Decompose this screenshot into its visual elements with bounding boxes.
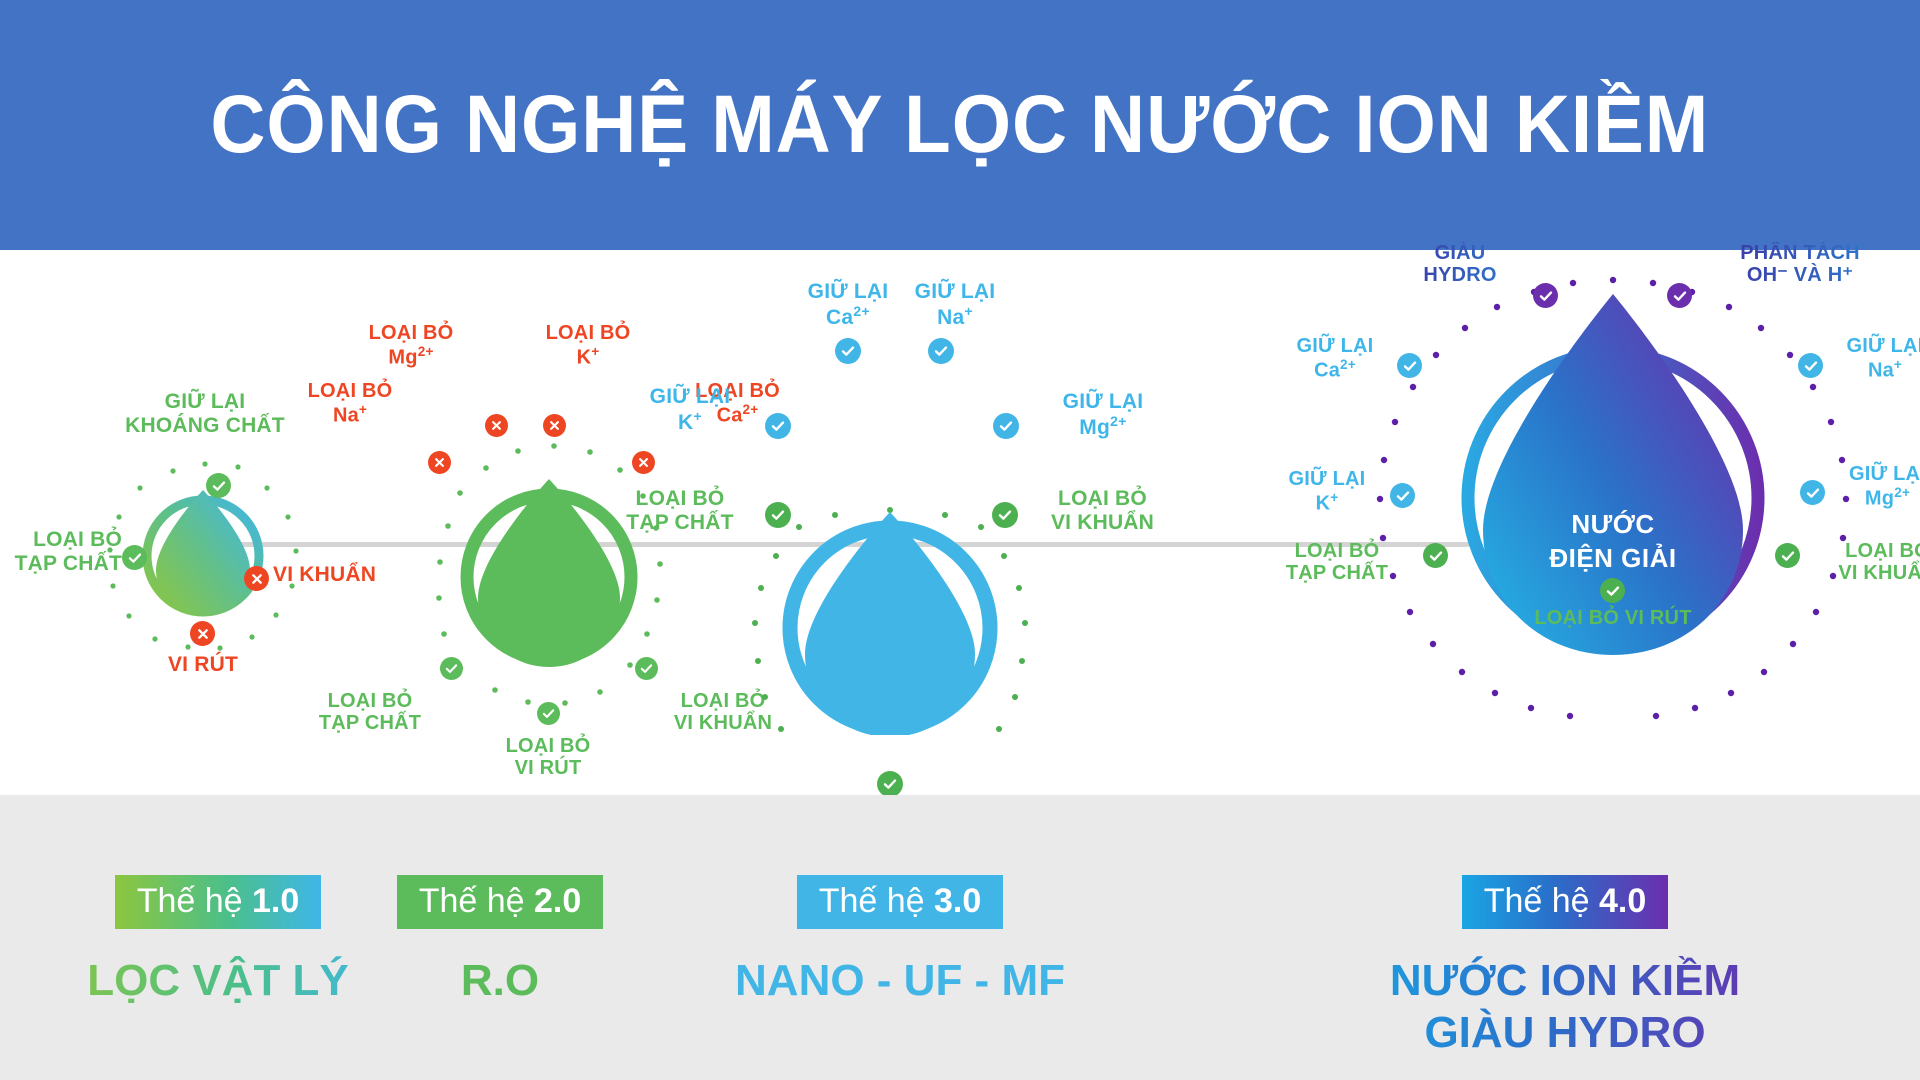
gen3-label-remove-bacteria: LOẠI BỎ VI KHUẨN <box>1015 487 1190 534</box>
gen4-bacteria-line1: LOẠI BỎ <box>1845 540 1920 562</box>
gen2-cross-badge-k <box>543 414 566 437</box>
gen4-check-badge-k <box>1390 483 1415 508</box>
gen2-cross-badge-mg <box>485 414 508 437</box>
gen3-label-remove-sediment: LOẠI BỎ TẠP CHẤT <box>595 487 765 534</box>
gen4-k-symbol: K <box>1316 493 1331 515</box>
footer-generation-3: Thế hệ 3.0 NANO - UF - MF <box>680 875 1120 1007</box>
gen3-check-badge-virus <box>877 771 903 797</box>
gen3-na-symbol: Na <box>937 306 964 329</box>
gen2-label-remove-na: LOẠI BỎ Na+ <box>275 380 425 427</box>
gen4-keep-k-line1: GIỮ LẠI <box>1289 468 1366 490</box>
gen3-label-keep-mg: GIỮ LẠI Mg2+ <box>1038 390 1168 439</box>
gen4-check-badge-mg <box>1800 480 1825 505</box>
gen3-sediment-line1: LOẠI BỎ <box>636 487 725 510</box>
footer-strip: Thế hệ 1.0 LỌC VẬT LÝ Thế hệ 2.0 R.O Thế… <box>0 795 1920 1080</box>
gen3-check-badge-bacteria <box>992 502 1018 528</box>
gen3-k-charge: + <box>693 409 702 425</box>
gen4-mg-symbol: Mg <box>1865 488 1894 510</box>
gen2-badge: Thế hệ 2.0 <box>397 875 604 929</box>
gen4-label-remove-sediment: LOẠI BỎ TẠP CHẤT <box>1252 540 1422 585</box>
gen3-badge-number: 3.0 <box>934 882 981 920</box>
gen1-label-remove-sediment: LOẠI BỎ TẠP CHẤT <box>0 528 122 575</box>
gen2-na-charge: + <box>359 402 367 417</box>
gen3-bacteria-line1: LOẠI BỎ <box>1058 487 1147 510</box>
gen3-check-badge-na <box>928 338 954 364</box>
page-title: CÔNG NGHỆ MÁY LỌC NƯỚC ION KIỀM <box>211 78 1710 172</box>
gen2-remove-mg-line1: LOẠI BỎ <box>369 322 454 344</box>
gen2-k-charge: + <box>591 344 599 359</box>
gen3-keep-mg-line1: GIỮ LẠI <box>1063 390 1144 413</box>
gen3-badge-prefix: Thế hệ <box>819 882 934 920</box>
generation-4-cluster: NƯỚC ĐIỆN GIẢI GIÀU HYDRO PHÂN TÁCH OH⁻ … <box>1280 250 1920 750</box>
gen4-name: NƯỚC ION KIỀM GIÀU HYDRO <box>1340 955 1790 1059</box>
gen3-bacteria-line2: VI KHUẨN <box>1051 511 1154 534</box>
gen2-label-remove-sediment: LOẠI BỎ TẠP CHẤT <box>280 690 460 735</box>
gen3-keep-ca-line1: GIỮ LẠI <box>808 280 889 303</box>
gen1-cross-badge-bacteria <box>244 566 269 591</box>
gen4-keep-na-line1: GIỮ LẠI <box>1847 335 1920 357</box>
gen4-name-line2: GIÀU HYDRO <box>1424 1008 1705 1057</box>
gen2-label-remove-mg: LOẠI BỎ Mg2+ <box>316 322 506 369</box>
gen3-keep-k-line1: GIỮ LẠI <box>650 385 731 408</box>
gen1-badge: Thế hệ 1.0 <box>115 875 322 929</box>
gen1-check-badge-minerals <box>206 473 231 498</box>
gen4-check-badge-sediment <box>1423 543 1448 568</box>
gen3-ca-symbol: Ca <box>826 306 853 329</box>
gen2-cross-badge-na <box>428 451 451 474</box>
gen4-caption-line1: NƯỚC <box>1571 509 1654 539</box>
gen3-mg-symbol: Mg <box>1079 416 1110 439</box>
gen1-cross-badge-virus <box>190 621 215 646</box>
gen4-label-remove-bacteria: LOẠI BỎ VI KHUẨN <box>1800 540 1920 585</box>
gen4-ca-symbol: Ca <box>1314 360 1340 382</box>
gen2-badge-prefix: Thế hệ <box>419 882 534 920</box>
gen2-sediment-line1: LOẠI BỎ <box>328 690 413 712</box>
gen4-check-badge-split <box>1667 283 1692 308</box>
gen1-keep-minerals-line2: KHOÁNG CHẤT <box>125 414 285 437</box>
gen4-name-line1: NƯỚC ION KIỀM <box>1390 956 1740 1005</box>
gen2-na-symbol: Na <box>333 405 359 427</box>
gen4-badge-number: 4.0 <box>1599 882 1646 920</box>
gen4-virus-text: LOẠI BỎ VI RÚT <box>1534 607 1691 629</box>
gen3-mg-charge: 2+ <box>1110 414 1127 430</box>
gen4-k-charge: + <box>1330 490 1338 505</box>
gen1-remove-sediment-line2: TẠP CHẤT <box>15 552 122 575</box>
gen4-rich-line2: HYDRO <box>1423 264 1496 286</box>
gen3-sediment-line2: TẠP CHẤT <box>626 511 733 534</box>
gen4-check-badge-virus <box>1600 578 1625 603</box>
gen3-keep-na-line1: GIỮ LẠI <box>915 280 996 303</box>
gen1-label-virus: VI RÚT <box>148 653 258 677</box>
gen2-name: R.O <box>320 955 680 1007</box>
gen4-sediment-line1: LOẠI BỎ <box>1295 540 1380 562</box>
gen4-label-keep-na: GIỮ LẠI Na+ <box>1825 335 1920 382</box>
gen2-check-badge-virus <box>537 702 560 725</box>
gen4-split-line2: OH⁻ VÀ H⁺ <box>1747 264 1853 286</box>
gen4-rich-line1: GIÀU <box>1435 242 1486 264</box>
gen4-label-keep-ca: GIỮ LẠI Ca2+ <box>1270 335 1400 382</box>
generation-3-cluster: GIỮ LẠI Ca2+ GIỮ LẠI Na+ GIỮ LẠI K+ GIỮ … <box>600 265 1180 735</box>
gen1-badge-number: 1.0 <box>252 882 299 920</box>
gen1-badge-prefix: Thế hệ <box>137 882 252 920</box>
footer-generation-2: Thế hệ 2.0 R.O <box>320 875 680 1007</box>
gen3-ca-charge: 2+ <box>853 304 870 320</box>
gen2-remove-na-line1: LOẠI BỎ <box>308 380 393 402</box>
gen4-na-symbol: Na <box>1868 360 1894 382</box>
gen4-check-badge-ca <box>1397 353 1422 378</box>
diagram-stage: GIỮ LẠI KHOÁNG CHẤT LOẠI BỎ TẠP CHẤT VI … <box>0 250 1920 795</box>
gen4-drop-caption: NƯỚC ĐIỆN GIẢI <box>1483 508 1743 576</box>
gen3-label-keep-k: GIỮ LẠI K+ <box>630 385 750 434</box>
gen4-badge-prefix: Thế hệ <box>1484 882 1599 920</box>
gen2-mg-symbol: Mg <box>388 347 417 369</box>
gen4-keep-ca-line1: GIỮ LẠI <box>1297 335 1374 357</box>
gen3-check-badge-sediment <box>765 502 791 528</box>
gen4-mg-charge: 2+ <box>1894 485 1910 500</box>
gen4-check-badge-rich-hydro <box>1533 283 1558 308</box>
gen2-k-symbol: K <box>577 347 592 369</box>
gen3-check-badge-mg <box>993 413 1019 439</box>
gen4-label-rich-hydro: GIÀU HYDRO <box>1385 242 1535 287</box>
gen2-virus-line1: LOẠI BỎ <box>506 735 591 757</box>
gen1-remove-sediment-line1: LOẠI BỎ <box>33 528 122 551</box>
gen4-check-badge-na <box>1798 353 1823 378</box>
gen4-label-remove-virus: LOẠI BỎ VI RÚT <box>1518 607 1708 629</box>
gen1-check-badge-sediment <box>122 545 147 570</box>
gen1-keep-minerals-line1: GIỮ LẠI <box>165 390 246 413</box>
gen3-check-badge-ca <box>835 338 861 364</box>
gen3-check-badge-k <box>765 413 791 439</box>
gen2-check-badge-sediment <box>440 657 463 680</box>
gen4-sediment-line2: TẠP CHẤT <box>1286 562 1388 584</box>
gen4-split-line1: PHÂN TÁCH <box>1740 242 1860 264</box>
gen1-virus-text: VI RÚT <box>168 653 238 676</box>
gen2-label-remove-virus: LOẠI BỎ VI RÚT <box>468 735 628 780</box>
gen4-check-badge-bacteria <box>1775 543 1800 568</box>
header-banner: CÔNG NGHỆ MÁY LỌC NƯỚC ION KIỀM <box>0 0 1920 250</box>
gen4-keep-mg-line1: GIỮ LẠI <box>1849 463 1920 485</box>
gen2-mg-charge: 2+ <box>418 344 434 359</box>
gen3-name: NANO - UF - MF <box>680 955 1120 1007</box>
gen4-caption-line2: ĐIỆN GIẢI <box>1549 543 1676 573</box>
gen4-badge: Thế hệ 4.0 <box>1462 875 1669 929</box>
gen4-label-keep-k: GIỮ LẠI K+ <box>1262 468 1392 515</box>
gen3-label-keep-na: GIỮ LẠI Na+ <box>885 280 1025 329</box>
gen4-label-keep-mg: GIỮ LẠI Mg2+ <box>1825 463 1920 510</box>
footer-generation-4: Thế hệ 4.0 NƯỚC ION KIỀM GIÀU HYDRO <box>1340 875 1790 1059</box>
gen4-na-charge: + <box>1894 357 1902 372</box>
gen4-ca-charge: 2+ <box>1340 357 1356 372</box>
gen4-label-split-oh-h: PHÂN TÁCH OH⁻ VÀ H⁺ <box>1695 242 1905 287</box>
gen2-badge-number: 2.0 <box>534 882 581 920</box>
gen3-na-charge: + <box>964 304 973 320</box>
gen4-bacteria-line2: VI KHUẨN <box>1838 562 1920 584</box>
gen2-virus-line2: VI RÚT <box>515 757 582 779</box>
gen2-sediment-line2: TẠP CHẤT <box>319 712 421 734</box>
gen3-badge: Thế hệ 3.0 <box>797 875 1004 929</box>
gen3-k-symbol: K <box>678 411 693 434</box>
